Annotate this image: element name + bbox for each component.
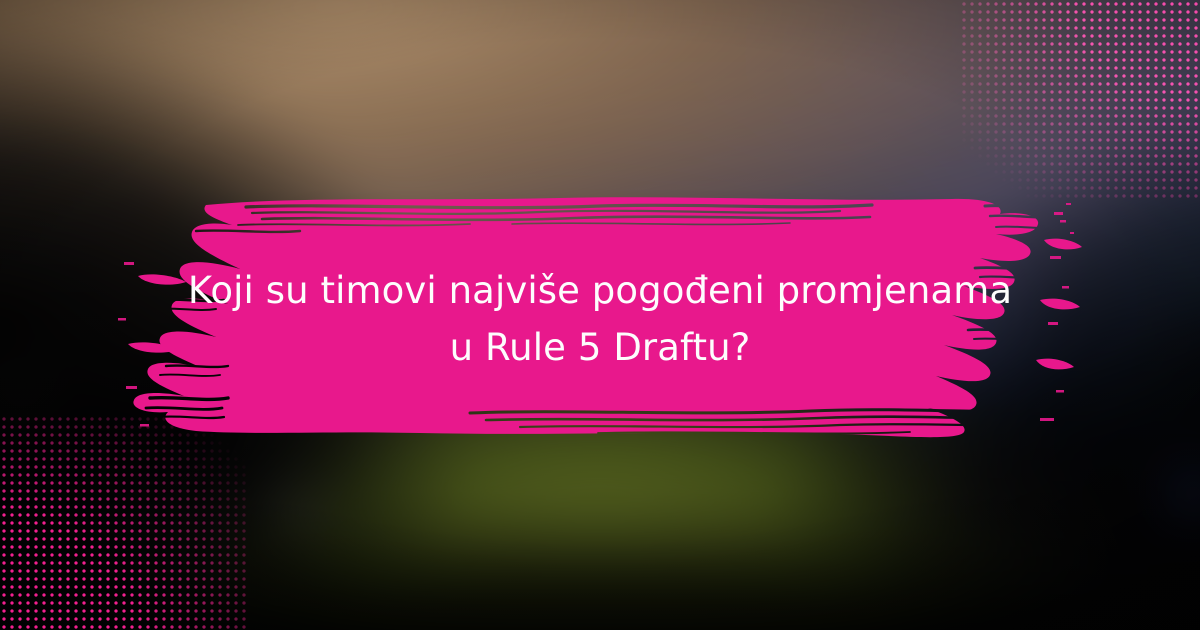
share-card: Koji su timovi najviše pogođeni promjena… bbox=[0, 0, 1200, 630]
page-title: Koji su timovi najviše pogođeni promjena… bbox=[0, 262, 1200, 376]
